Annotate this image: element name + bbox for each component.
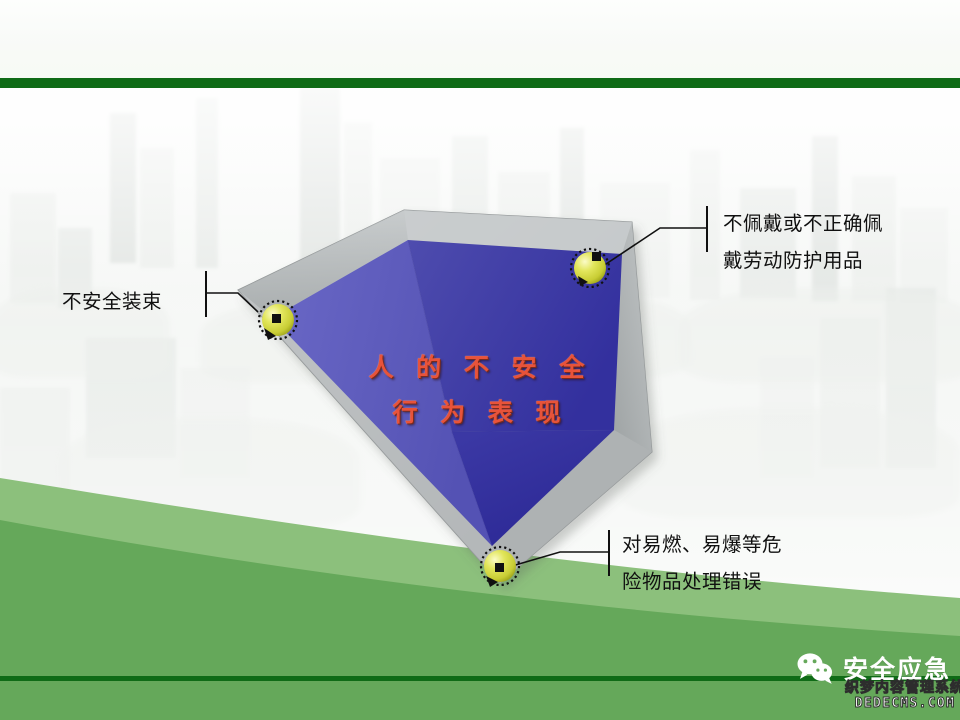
callout-unsafe-dress-line1: 不安全装束 xyxy=(62,283,162,320)
callout-no-ppe-line1: 不佩戴或不正确佩 xyxy=(723,205,883,242)
tick-unsafe-dress xyxy=(205,271,207,317)
slide-canvas: 不安全装束 不佩戴或不正确佩 戴劳动防护用品 对易燃、易爆等危 险物品处理错误 … xyxy=(0,0,960,720)
callout-no-ppe-line2: 戴劳动防护用品 xyxy=(723,242,883,279)
tick-no-ppe xyxy=(706,206,708,252)
watermark-en: DEDECMS.COM xyxy=(845,696,960,711)
watermark: 织梦内容管理系统 DEDECMS.COM xyxy=(845,680,960,711)
tick-hazmat xyxy=(608,530,610,576)
wechat-icon xyxy=(795,652,835,684)
callout-no-ppe: 不佩戴或不正确佩 戴劳动防护用品 xyxy=(723,205,883,279)
callout-unsafe-dress: 不安全装束 xyxy=(62,283,162,320)
pentagon-box-diagram xyxy=(0,0,960,720)
callout-hazmat-line1: 对易燃、易爆等危 xyxy=(622,526,782,563)
watermark-cn: 织梦内容管理系统 xyxy=(845,680,960,696)
callout-hazmat: 对易燃、易爆等危 险物品处理错误 xyxy=(622,526,782,600)
callout-hazmat-line2: 险物品处理错误 xyxy=(622,563,782,600)
